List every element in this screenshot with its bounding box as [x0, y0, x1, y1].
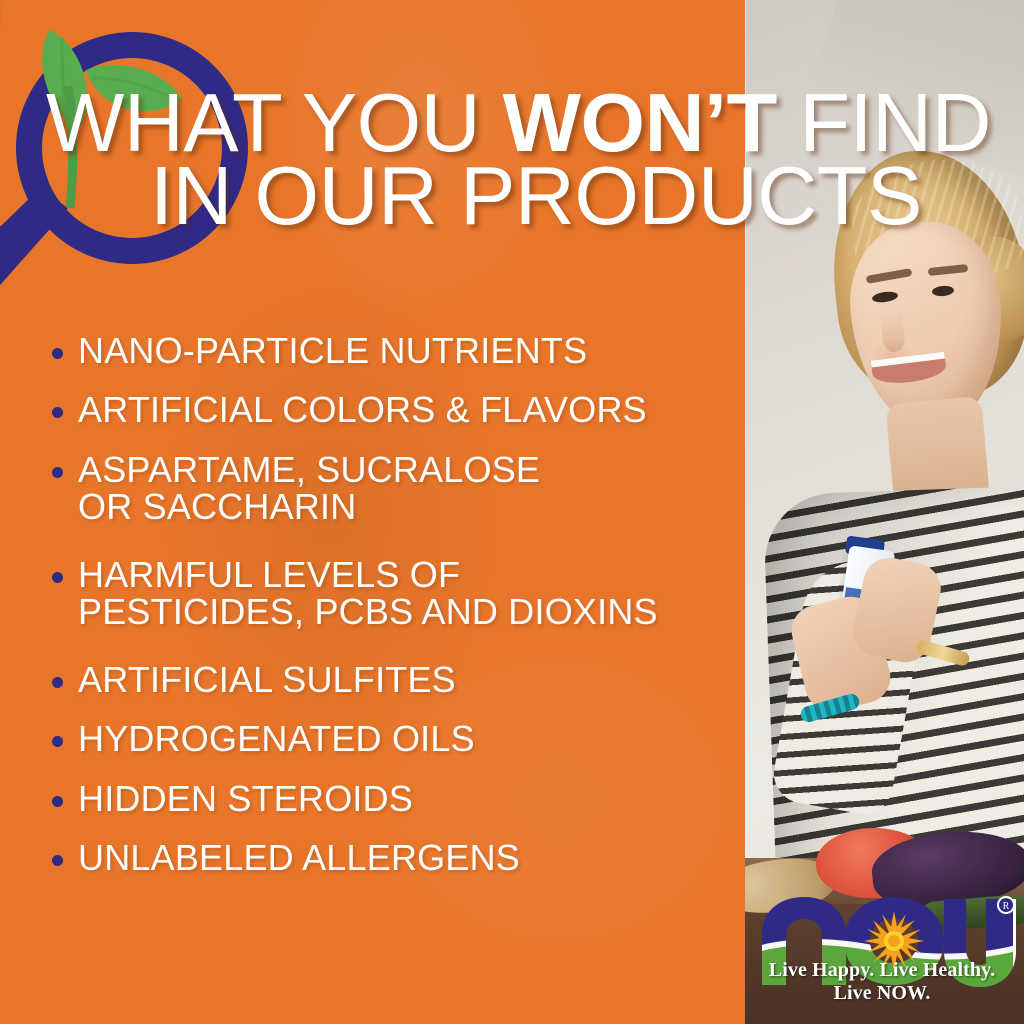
list-item: HYDROGENATED OILS: [46, 720, 746, 757]
list-item: ASPARTAME, SUCRALOSE OR SACCHARIN: [46, 451, 746, 526]
list-item: UNLABELED ALLERGENS: [46, 839, 746, 876]
list-item: HARMFUL LEVELS OF PESTICIDES, PCBS AND D…: [46, 556, 746, 631]
exclusions-list: NANO-PARTICLE NUTRIENTS ARTIFICIAL COLOR…: [46, 332, 746, 898]
headline: WHAT YOU WON’T FIND IN OUR PRODUCTS: [0, 86, 1000, 232]
list-item: HIDDEN STEROIDS: [46, 780, 746, 817]
list-item: ARTIFICIAL SULFITES: [46, 661, 746, 698]
brand-tagline: Live Happy. Live Healthy. Live NOW.: [748, 959, 1016, 1005]
promotional-poster: WHAT YOU WON’T FIND IN OUR PRODUCTS NANO…: [0, 0, 1024, 1024]
headline-line-2: IN OUR PRODUCTS: [0, 159, 1000, 232]
list-item: ARTIFICIAL COLORS & FLAVORS: [46, 391, 746, 428]
svg-text:R: R: [1003, 901, 1010, 912]
list-item: NANO-PARTICLE NUTRIENTS: [46, 332, 746, 369]
